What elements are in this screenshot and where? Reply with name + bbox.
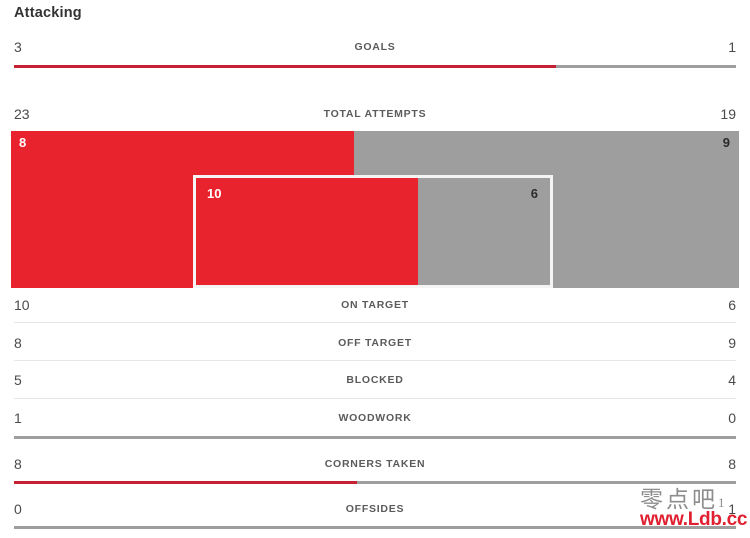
offsides-away-value: 1 xyxy=(728,498,736,520)
total-attempts-label: TOTAL ATTEMPTS xyxy=(0,103,750,125)
stat-row-corners-taken: 8 CORNERS TAKEN 8 xyxy=(0,453,750,475)
stat-row-off-target: 8 OFF TARGET 9 xyxy=(0,332,750,354)
goals-bar xyxy=(14,65,736,68)
goals-label: GOALS xyxy=(0,36,750,58)
corners-taken-bar-home-fill xyxy=(14,481,357,484)
stat-row-on-target: 10 ON TARGET 6 xyxy=(0,294,750,316)
blocked-away-value: 4 xyxy=(728,369,736,391)
woodwork-label: WOODWORK xyxy=(0,407,750,429)
offsides-label: OFFSIDES xyxy=(0,498,750,520)
total-attempts-away-value: 19 xyxy=(720,103,736,125)
total-attempts-inner-home-fill xyxy=(196,178,418,285)
total-attempts-inner-away-label: 6 xyxy=(531,186,538,201)
divider-offsides xyxy=(14,526,736,529)
corners-taken-bar xyxy=(14,481,736,484)
stat-row-blocked: 5 BLOCKED 4 xyxy=(0,369,750,391)
divider-blocked xyxy=(14,398,736,399)
total-attempts-inner-bar: 10 6 xyxy=(193,175,553,288)
total-attempts-outer-away-label: 9 xyxy=(723,135,730,150)
stat-row-goals: 3 GOALS 1 xyxy=(0,36,750,58)
on-target-label: ON TARGET xyxy=(0,294,750,316)
corners-taken-away-value: 8 xyxy=(728,453,736,475)
goals-away-value: 1 xyxy=(728,36,736,58)
total-attempts-inner-home-label: 10 xyxy=(207,186,221,201)
attacking-stats-panel: Attacking 3 GOALS 1 23 TOTAL ATTEMPTS 19… xyxy=(0,0,750,538)
page-title: Attacking xyxy=(14,5,82,21)
off-target-away-value: 9 xyxy=(728,332,736,354)
off-target-label: OFF TARGET xyxy=(0,332,750,354)
goals-bar-home-fill xyxy=(14,65,556,68)
stat-row-total-attempts: 23 TOTAL ATTEMPTS 19 xyxy=(0,103,750,125)
blocked-label: BLOCKED xyxy=(0,369,750,391)
stat-row-woodwork: 1 WOODWORK 0 xyxy=(0,407,750,429)
stat-row-offsides: 0 OFFSIDES 1 xyxy=(0,498,750,520)
total-attempts-outer-home-label: 8 xyxy=(19,135,26,150)
divider-on-target xyxy=(14,322,736,323)
woodwork-away-value: 0 xyxy=(728,407,736,429)
corners-taken-label: CORNERS TAKEN xyxy=(0,453,750,475)
divider-woodwork xyxy=(14,436,736,439)
divider-off-target xyxy=(14,360,736,361)
on-target-away-value: 6 xyxy=(728,294,736,316)
